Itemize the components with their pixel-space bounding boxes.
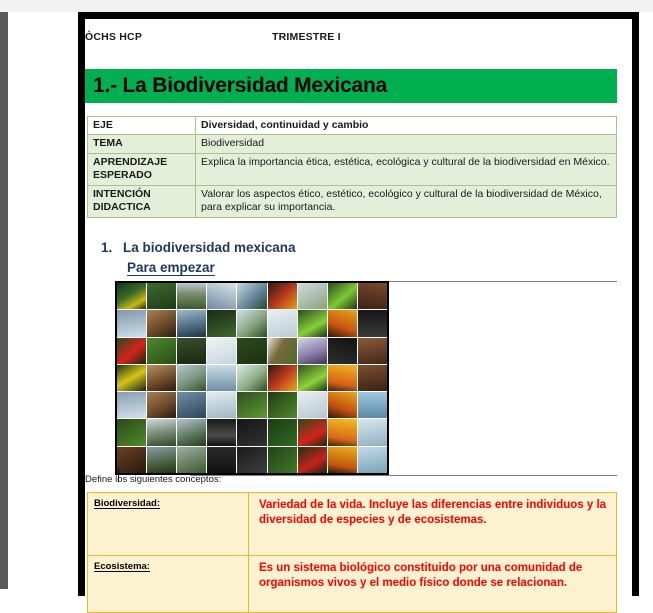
collage-tile [207,310,236,336]
collage-tile [207,392,236,418]
collage-tile [237,419,266,445]
collage-tile [147,447,176,473]
collage-tile [298,310,327,336]
collage-tile [117,310,146,336]
collage-tile [207,338,236,364]
app-left-gutter [0,0,8,589]
text-cursor [118,469,119,482]
row-value-intencion: Valorar los aspectos ético, estético, ec… [196,185,617,217]
definition-term-label: Ecosistema: [94,561,150,572]
page-margin-area [8,0,78,589]
definition-term-biodiversidad: Biodiversidad: [88,493,249,556]
definition-answer-biodiversidad[interactable]: Variedad de la vida. Incluye las diferen… [249,493,617,556]
table-row: APRENDIZAJE ESPERADO Explica la importan… [88,153,617,185]
section-heading-text: La biodiversidad mexicana [123,240,296,255]
collage-tile [237,310,266,336]
running-header: ÒCHS HCP TRIMESTRE I [85,31,632,49]
collage-tile [207,283,236,309]
table-row: EJE Diversidad, continuidad y cambio [88,117,617,135]
row-label-intencion: INTENCIÓN DIDACTICA [88,185,196,217]
collage-tile [177,338,206,364]
collage-tile [268,338,297,364]
collage-tile [268,310,297,336]
collage-tile [237,392,266,418]
table-row: Ecosistema: Es un sistema biológico cons… [88,556,617,613]
collage-tile [177,392,206,418]
collage-tile [207,365,236,391]
collage-tile [328,365,357,391]
collage-tile [358,419,387,445]
row-value-aprendizaje: Explica la importancia ética, estética, … [196,153,617,185]
collage-tile [207,419,236,445]
row-label-eje: EJE [88,117,196,135]
collage-tile [268,392,297,418]
collage-tile [117,283,146,309]
collage-tile [268,447,297,473]
collage-tile [298,365,327,391]
collage-tile [237,338,266,364]
collage-tile [147,283,176,309]
collage-tile [358,365,387,391]
collage-tile [358,338,387,364]
collage-tile [328,310,357,336]
row-value-tema: Biodiversidad [196,135,617,153]
page-title: 1.- La Biodiversidad Mexicana [85,74,387,98]
collage-tile [117,419,146,445]
row-label-tema: TEMA [88,135,196,153]
collage-tile [328,419,357,445]
collage-tile [177,283,206,309]
collage-tile [298,283,327,309]
title-banner: 1.- La Biodiversidad Mexicana [85,69,617,103]
collage-tile [358,283,387,309]
definition-answer-ecosistema[interactable]: Es un sistema biológico constituido por … [249,556,617,613]
collage-tile [117,447,146,473]
collage-tile [328,447,357,473]
collage-tile [177,365,206,391]
collage-tile [268,419,297,445]
section-heading: 1.La biodiversidad mexicana [101,240,521,255]
row-label-aprendizaje: APRENDIZAJE ESPERADO [88,153,196,185]
collage-tile [328,392,357,418]
collage-tile [147,365,176,391]
collage-tile [177,419,206,445]
collage-tile [328,283,357,309]
collage-tile [117,365,146,391]
collage-tile [268,365,297,391]
collage-tile [298,338,327,364]
definitions-table: Biodiversidad: Variedad de la vida. Incl… [87,492,617,613]
collage-tile [237,365,266,391]
header-left-text: ÒCHS HCP [85,31,142,43]
collage-tile [117,392,146,418]
collage-tile [298,419,327,445]
section-number: 1. [101,240,123,255]
collage-tile [268,283,297,309]
collage-tile [177,447,206,473]
collage-tile [237,283,266,309]
biodiversity-photo-collage [115,281,389,475]
table-row: TEMA Biodiversidad [88,135,617,153]
definition-term-label: Biodiversidad: [94,498,160,509]
table-row: Biodiversidad: Variedad de la vida. Incl… [88,493,617,556]
row-value-eje: Diversidad, continuidad y cambio [196,117,617,135]
lesson-info-table: EJE Diversidad, continuidad y cambio TEM… [87,116,617,218]
top-band [0,0,653,12]
collage-tile [358,310,387,336]
definition-term-ecosistema: Ecosistema: [88,556,249,613]
collage-tile [147,419,176,445]
collage-tile [177,310,206,336]
collage-tile [298,447,327,473]
document-page: ÒCHS HCP TRIMESTRE I 1.- La Biodiversida… [78,12,639,596]
collage-tile [207,447,236,473]
collage-tile [147,392,176,418]
collage-tile [147,338,176,364]
collage-tile [358,447,387,473]
collage-tile [358,392,387,418]
collage-grid [117,283,387,473]
collage-tile [147,310,176,336]
section-subheading: Para empezar [127,260,215,275]
caption-horizontal-rule [190,475,617,476]
collage-tile [328,338,357,364]
collage-tile [117,338,146,364]
header-middle-text: TRIMESTRE I [272,31,341,43]
table-row: INTENCIÓN DIDACTICA Valorar los aspectos… [88,185,617,217]
collage-tile [237,447,266,473]
collage-tile [298,392,327,418]
